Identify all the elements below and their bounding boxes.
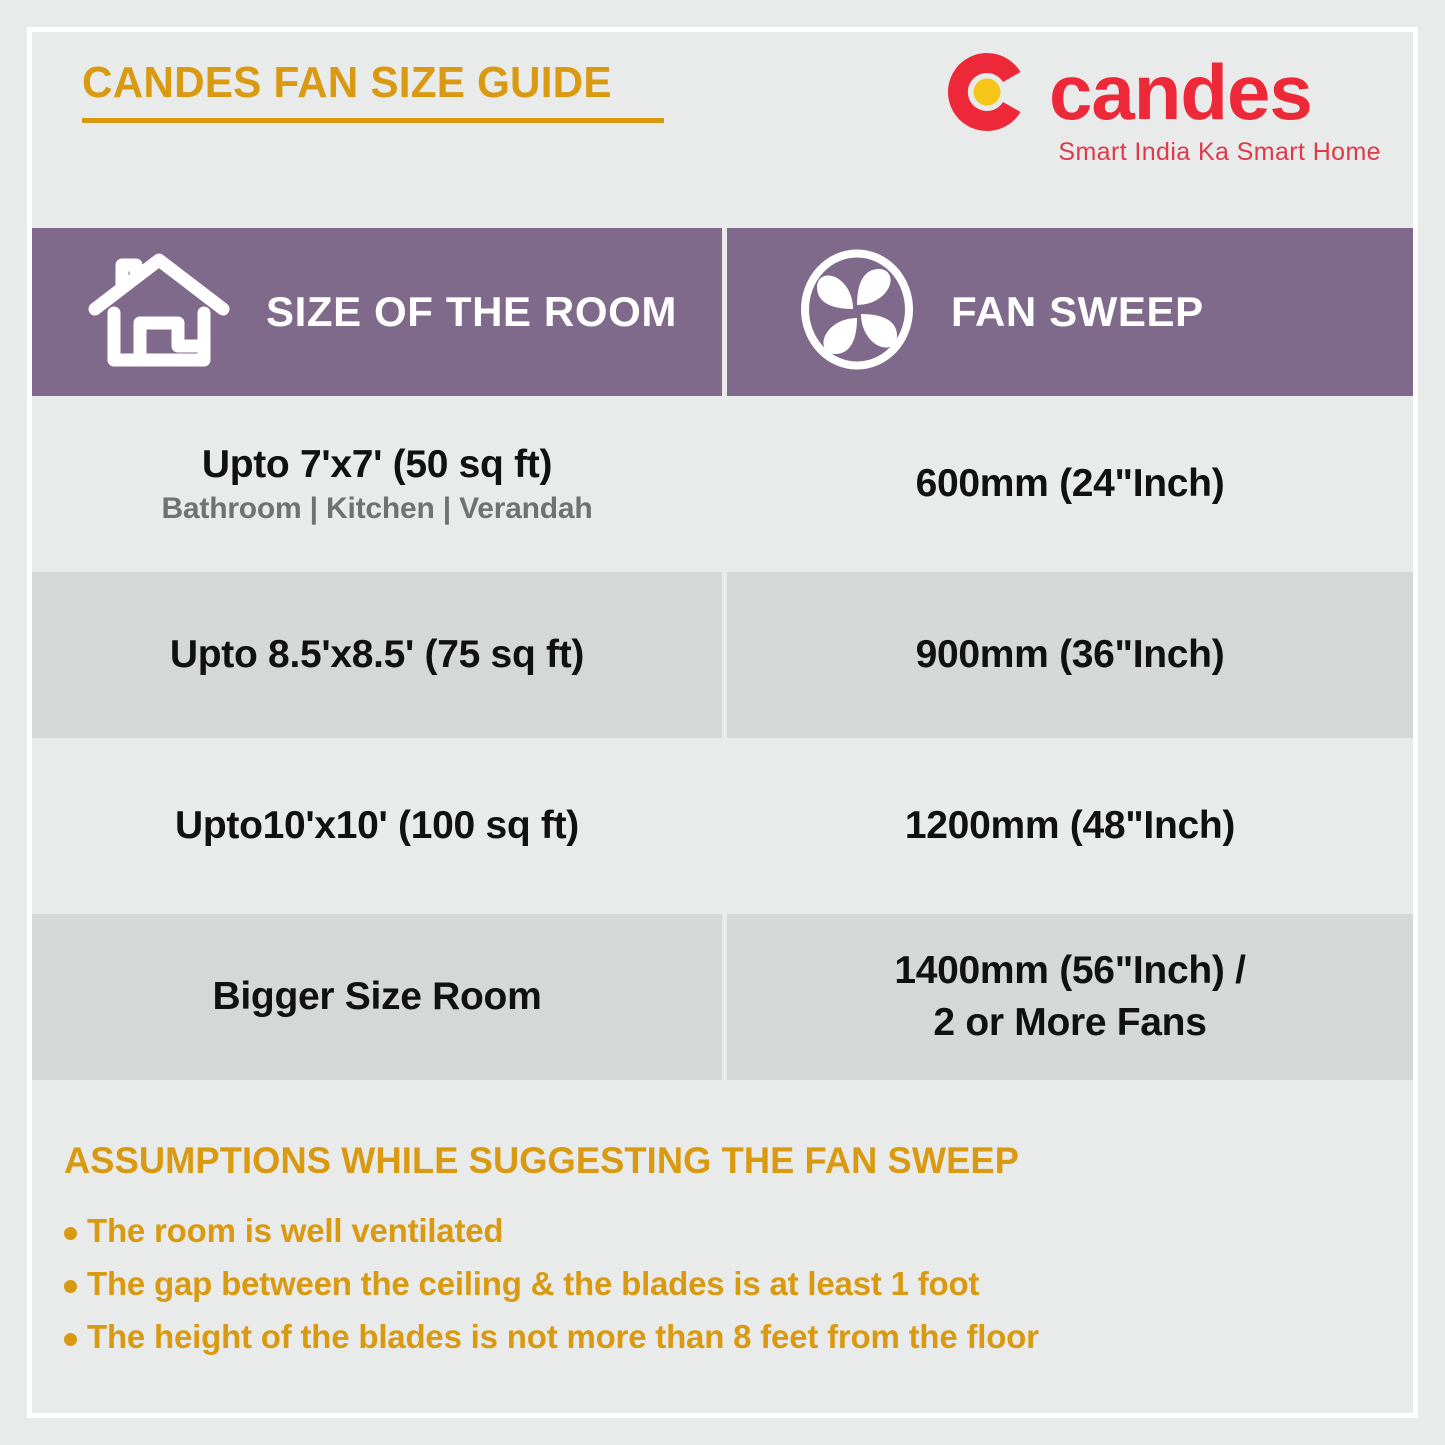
table-row: Upto10'x10' (100 sq ft) 1200mm (48"Inch) bbox=[32, 743, 1413, 909]
fan-sweep-text: 900mm (36"Inch) bbox=[916, 632, 1225, 678]
fan-icon bbox=[797, 247, 917, 377]
fan-size-table: SIZE OF THE ROOM FAN SWEEP bbox=[32, 228, 1413, 1085]
candes-c-mark-icon bbox=[943, 48, 1031, 136]
logo-row: candes bbox=[943, 46, 1312, 138]
room-type-text: Bathroom | Kitchen | Verandah bbox=[161, 492, 592, 526]
list-item: The gap between the ceiling & the blades… bbox=[64, 1265, 1364, 1303]
room-size-text: Upto10'x10' (100 sq ft) bbox=[175, 803, 579, 849]
room-size-text: Upto 7'x7' (50 sq ft) bbox=[202, 442, 552, 488]
room-cell: Upto 8.5'x8.5' (75 sq ft) bbox=[32, 572, 722, 738]
sweep-cell: 1400mm (56"Inch) / 2 or More Fans bbox=[727, 914, 1413, 1080]
table-header-room-label: SIZE OF THE ROOM bbox=[266, 288, 677, 336]
logo-wordmark: candes bbox=[1049, 53, 1312, 131]
list-item: The room is well ventilated bbox=[64, 1212, 1364, 1250]
page-title: CANDES FAN SIZE GUIDE bbox=[82, 58, 612, 108]
list-item: The height of the blades is not more tha… bbox=[64, 1318, 1364, 1356]
bullet-icon bbox=[64, 1227, 77, 1240]
table-row: Upto 8.5'x8.5' (75 sq ft) 900mm (36"Inch… bbox=[32, 572, 1413, 738]
fan-size-guide-poster: CANDES FAN SIZE GUIDE candes Smart India… bbox=[0, 0, 1445, 1445]
sweep-cell: 600mm (24"Inch) bbox=[727, 401, 1413, 567]
house-icon bbox=[86, 251, 232, 374]
bullet-icon bbox=[64, 1333, 77, 1346]
table-header-row: SIZE OF THE ROOM FAN SWEEP bbox=[32, 228, 1413, 396]
fan-sweep-text-line2: 2 or More Fans bbox=[933, 997, 1206, 1049]
table-header-sweep: FAN SWEEP bbox=[727, 228, 1413, 396]
poster-header: CANDES FAN SIZE GUIDE candes Smart India… bbox=[50, 40, 1395, 190]
sweep-cell: 900mm (36"Inch) bbox=[727, 572, 1413, 738]
assumption-text: The gap between the ceiling & the blades… bbox=[87, 1265, 979, 1303]
page-title-underline bbox=[82, 118, 664, 123]
bullet-icon bbox=[64, 1280, 77, 1293]
logo-tagline: Smart India Ka Smart Home bbox=[1058, 138, 1381, 167]
fan-sweep-text-line1: 1400mm (56"Inch) / bbox=[894, 945, 1245, 997]
room-size-text: Upto 8.5'x8.5' (75 sq ft) bbox=[170, 632, 584, 678]
table-header-sweep-label: FAN SWEEP bbox=[951, 288, 1204, 336]
sweep-cell: 1200mm (48"Inch) bbox=[727, 743, 1413, 909]
fan-sweep-text: 1200mm (48"Inch) bbox=[905, 803, 1235, 849]
table-row: Upto 7'x7' (50 sq ft) Bathroom | Kitchen… bbox=[32, 401, 1413, 567]
assumptions-section: ASSUMPTIONS WHILE SUGGESTING THE FAN SWE… bbox=[64, 1140, 1364, 1371]
assumption-text: The room is well ventilated bbox=[87, 1212, 503, 1250]
brand-logo: candes Smart India Ka Smart Home bbox=[943, 46, 1383, 171]
room-size-text: Bigger Size Room bbox=[213, 974, 542, 1020]
assumptions-list: The room is well ventilated The gap betw… bbox=[64, 1212, 1364, 1356]
assumption-text: The height of the blades is not more tha… bbox=[87, 1318, 1039, 1356]
table-row: Bigger Size Room 1400mm (56"Inch) / 2 or… bbox=[32, 914, 1413, 1080]
fan-sweep-text: 600mm (24"Inch) bbox=[916, 461, 1225, 507]
assumptions-title: ASSUMPTIONS WHILE SUGGESTING THE FAN SWE… bbox=[64, 1140, 1338, 1182]
room-cell: Upto10'x10' (100 sq ft) bbox=[32, 743, 722, 909]
table-header-room: SIZE OF THE ROOM bbox=[32, 228, 722, 396]
room-cell: Upto 7'x7' (50 sq ft) Bathroom | Kitchen… bbox=[32, 401, 722, 567]
room-cell: Bigger Size Room bbox=[32, 914, 722, 1080]
